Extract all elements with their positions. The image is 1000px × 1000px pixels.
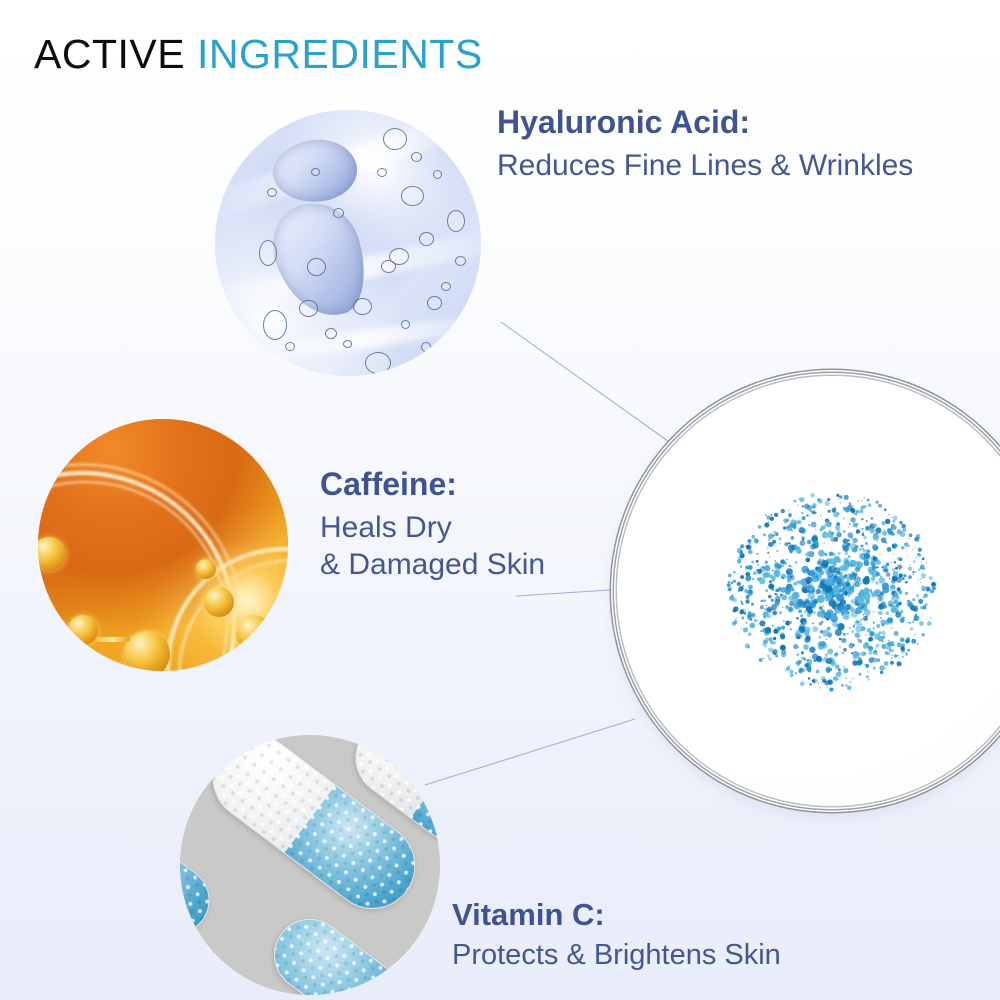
gel-bubble (427, 296, 442, 310)
connector-hyaluronic (501, 322, 672, 444)
gel-bubble (259, 240, 277, 266)
gel-bubble (433, 170, 442, 179)
connector-vitaminc (425, 719, 635, 785)
gel-bubble (299, 300, 318, 317)
oil-bubble (196, 559, 216, 579)
oil-bubble (204, 587, 234, 617)
callout-title-hyaluronic-acid: Hyaluronic Acid: (497, 104, 913, 142)
gel-bubble (325, 328, 337, 339)
gel-bubble (267, 188, 277, 197)
gel-bubble (383, 128, 407, 150)
gel-bubble (311, 168, 320, 176)
callout-title-vitamin-c: Vitamin C: (452, 897, 781, 934)
page-title: ACTIVE INGREDIENTS (34, 34, 483, 75)
oil-bubble-link (96, 637, 130, 642)
blue-micro-particles-jar (617, 376, 1000, 806)
hyaluronic-acid-gel-swatch (215, 110, 481, 376)
gel-bubble (419, 232, 434, 246)
oil-bubble (236, 615, 272, 651)
gel-bubble (263, 310, 287, 340)
callout-desc-hyaluronic-acid: Reduces Fine Lines & Wrinkles (497, 147, 913, 184)
callout-caffeine: Caffeine: Heals Dry & Damaged Skin (320, 466, 545, 583)
gel-bubble (447, 210, 465, 232)
caffeine-oil-swatch (38, 419, 288, 671)
gel-bubble (285, 342, 295, 351)
gel-bubble (365, 352, 391, 374)
gel-bubble (401, 186, 424, 206)
gel-bubble (441, 282, 451, 291)
page-title-active: ACTIVE (34, 31, 185, 77)
gel-bubble (411, 152, 422, 162)
gel-bubble (333, 208, 344, 218)
active-ingredients-poster: ACTIVE INGREDIENTS (0, 0, 1000, 1000)
vitamin-c-capsule-swatch (180, 735, 440, 995)
callout-hyaluronic-acid: Hyaluronic Acid: Reduces Fine Lines & Wr… (497, 104, 913, 184)
gel-bubble (401, 320, 410, 329)
gel-bubble (377, 168, 387, 177)
callout-desc-vitamin-c: Protects & Brightens Skin (452, 938, 781, 974)
oil-bubble (68, 615, 98, 645)
page-title-ingredients: INGREDIENTS (197, 31, 483, 77)
oil-bubble (124, 631, 170, 671)
callout-desc-caffeine-line2: & Damaged Skin (320, 546, 545, 583)
callout-title-caffeine: Caffeine: (320, 466, 545, 504)
callout-desc-caffeine-line1: Heals Dry (320, 509, 545, 546)
gel-bubble (421, 342, 431, 352)
gel-bubble (455, 256, 466, 266)
gel-bubble (381, 260, 396, 273)
blue-particle-cluster (712, 471, 952, 711)
gel-bubble (353, 298, 372, 315)
gel-bubble (343, 340, 352, 348)
callout-vitamin-c: Vitamin C: Protects & Brightens Skin (452, 897, 781, 974)
gel-bubble (307, 258, 326, 276)
